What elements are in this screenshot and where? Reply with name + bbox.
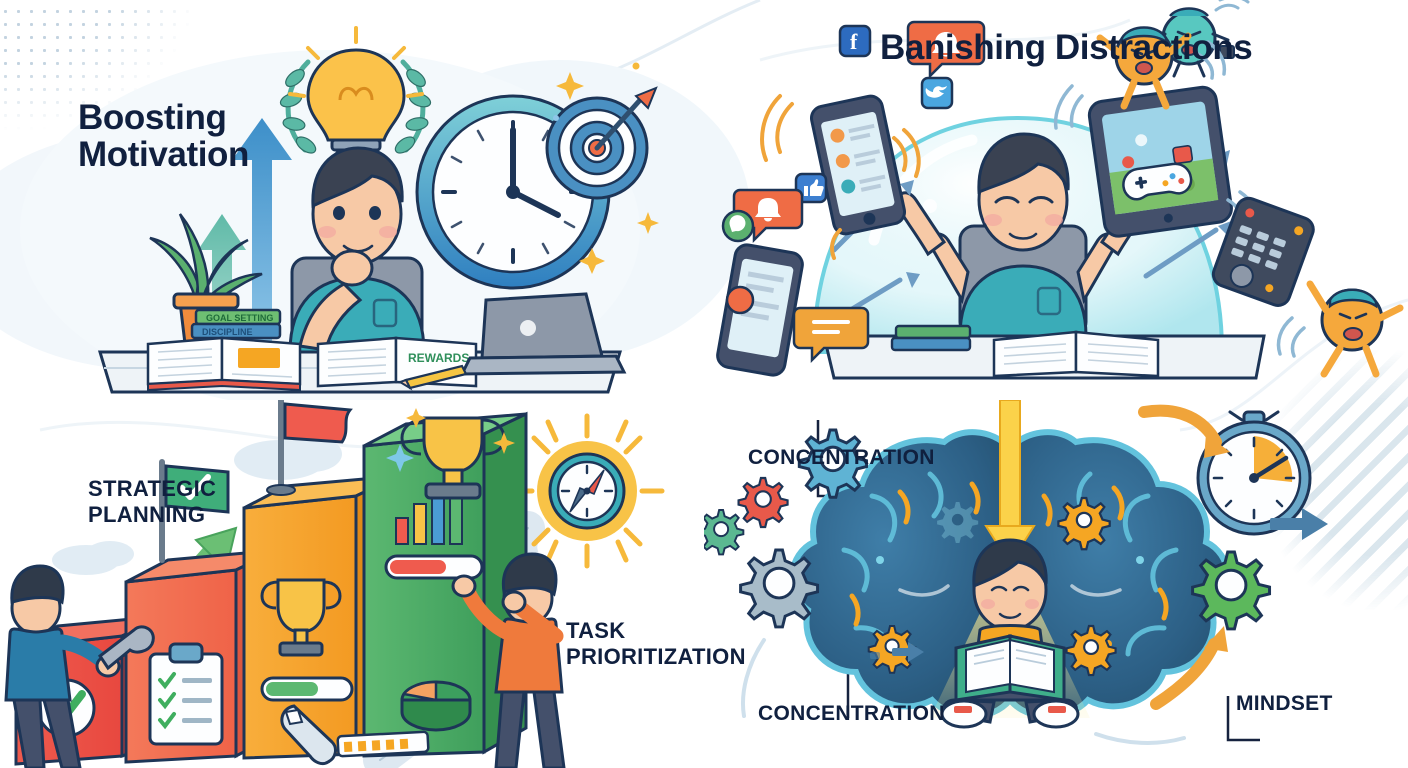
tablet-game-icon [1088, 85, 1234, 237]
pie-chart-icon [402, 682, 470, 730]
compass-icon [550, 454, 624, 528]
gear-icon-orange-1 [1058, 498, 1109, 549]
open-book-text-rewards: REWARDS [408, 351, 469, 365]
progress-bar-2 [386, 556, 482, 578]
book-stack-icon: GOAL SETTING DISCIPLINE [192, 310, 280, 338]
title-boosting-motivation: Boosting Motivation [78, 100, 249, 174]
label-concentration-top: CONCENTRATION [748, 446, 935, 471]
gear-icon-green-large [1193, 552, 1270, 629]
facebook-icon: f [840, 26, 870, 56]
whatsapp-icon [723, 211, 753, 241]
infographic-canvas: GOAL SETTING DISCIPLINE [0, 0, 1408, 768]
gear-icon-green-small [704, 510, 743, 554]
ruler-icon [338, 732, 429, 757]
gear-icon-ghost [937, 502, 978, 543]
quadrant-boosting-motivation: GOAL SETTING DISCIPLINE [0, 0, 704, 400]
book-spine-label-discipline: DISCIPLINE [202, 327, 253, 337]
target-icon [547, 88, 656, 198]
progress-bar [262, 678, 352, 700]
notification-dot-icon [727, 287, 753, 313]
gear-icon-red [739, 478, 788, 527]
smartphone-icon [809, 94, 906, 236]
label-mindset: MINDSET [1236, 692, 1333, 717]
label-concentration-bottom: CONCENTRATION [758, 702, 945, 727]
open-book-icon-left [148, 338, 300, 390]
arrow-curved-icon-top [1144, 411, 1230, 458]
clipboard-checklist-icon [150, 644, 222, 744]
label-strategic-planning: STRATEGIC PLANNING [88, 476, 216, 528]
gear-icon-grey [741, 550, 818, 627]
svg-text:f: f [850, 29, 858, 54]
title-banishing-distractions: Banishing Distractions [880, 30, 1252, 67]
smartphone-icon-2 [716, 243, 804, 377]
quadrant-strategic-planning [0, 400, 704, 768]
book-spine-label-goal-setting: GOAL SETTING [206, 313, 273, 323]
open-book-icon [994, 332, 1158, 376]
open-book-icon [956, 636, 1064, 700]
twitter-icon [922, 78, 952, 108]
book-stack-icon [892, 326, 970, 350]
gear-icon-orange-3 [1067, 626, 1116, 675]
open-book-icon-right: REWARDS [318, 338, 476, 386]
angry-emoji-icon-4 [1279, 284, 1401, 374]
